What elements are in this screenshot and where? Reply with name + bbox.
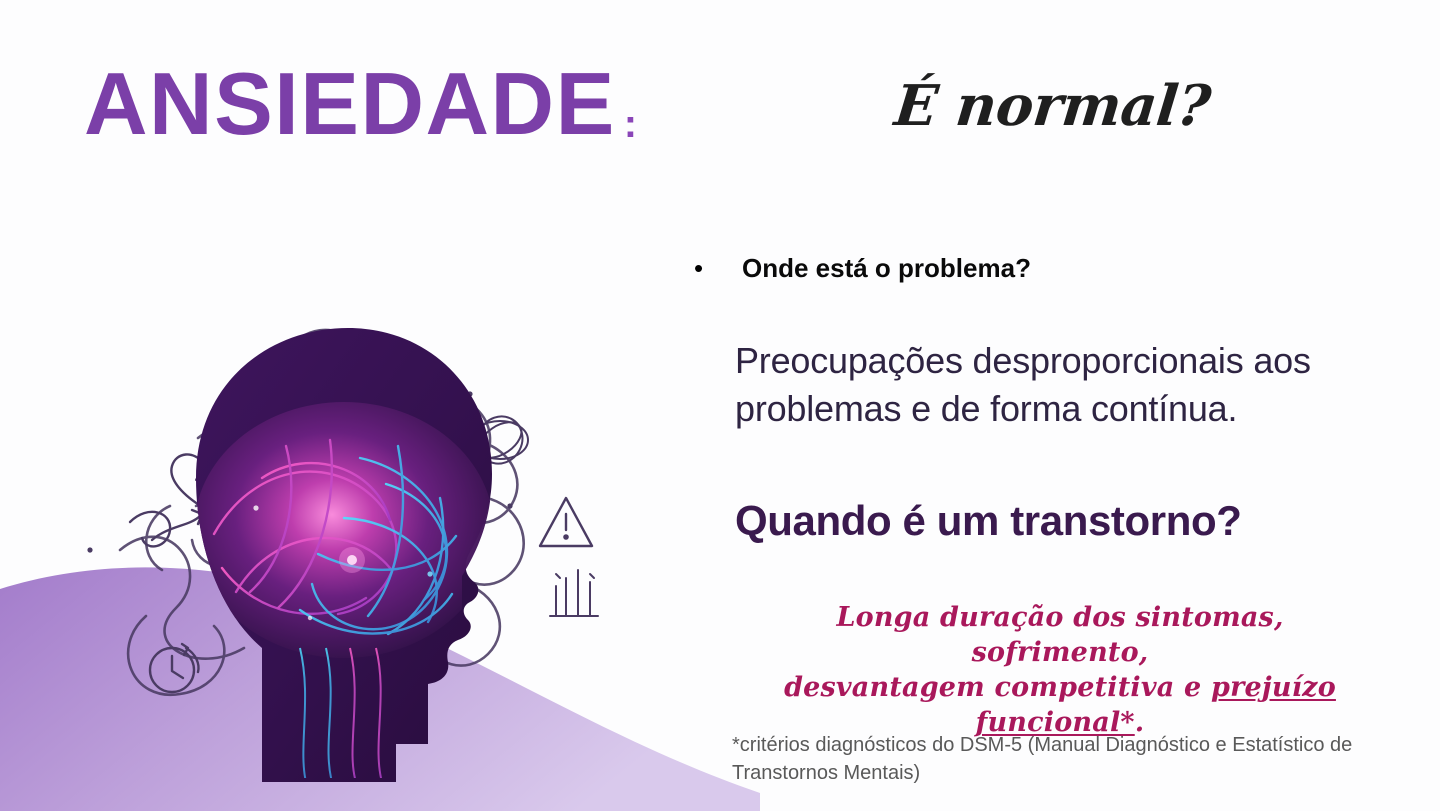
bullet-item-label: Onde está o problema? [742,255,1031,281]
clock-refresh-icon [150,644,199,692]
section-heading: Quando é um transtorno? [735,500,1241,542]
script-answer-block: Longa duração dos sintomas, sofrimento, … [760,600,1360,740]
title-script-question: É normal? [892,78,1213,134]
signal-bars-icon [550,570,598,616]
title-colon: : [624,104,637,144]
footnote: *critérios diagnósticos do DSM-5 (Manual… [732,731,1432,788]
script-answer-line2-underlined: prejuízo [1211,672,1336,703]
warning-triangle-icon [540,498,592,546]
slide-title: ANSIEDADE : [84,60,637,148]
body-paragraph: Preocupações desproporcionais aos proble… [735,337,1415,432]
dot-icon [87,547,92,552]
script-answer-line1: Longa duração dos sintomas, sofrimento, [836,602,1283,668]
bullet-marker-icon: • [694,255,742,281]
slide-canvas: ANSIEDADE : É normal? • Onde está o prob… [0,0,1440,811]
dot-icon [507,503,512,508]
script-answer-line2-plain: desvantagem competitiva e [784,672,1211,703]
bullet-item: • Onde está o problema? [694,255,1031,281]
anxiety-brain-illustration [0,178,640,811]
title-main-text: ANSIEDADE [84,60,616,148]
